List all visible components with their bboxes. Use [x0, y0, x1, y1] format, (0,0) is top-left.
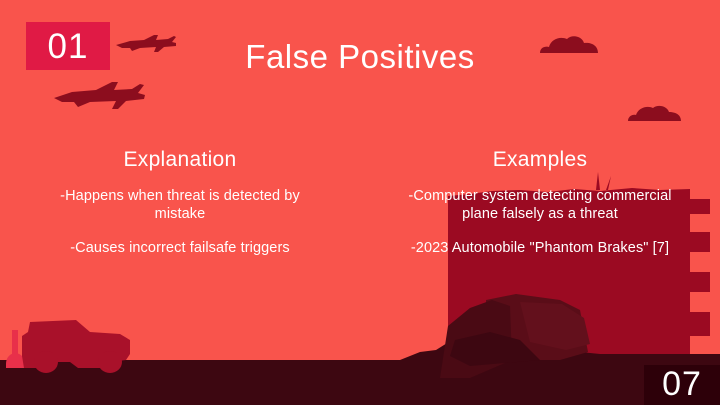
column-heading: Explanation [28, 148, 332, 171]
bullet-item: -Causes incorrect failsafe triggers [28, 239, 332, 257]
column-heading: Examples [388, 148, 692, 171]
bullet-item: -2023 Automobile "Phantom Brakes" [7] [388, 239, 692, 257]
column-examples: Examples -Computer system detecting comm… [360, 148, 720, 273]
rocky-terrain-silhouette [0, 334, 720, 405]
cloud-icon [627, 103, 682, 123]
slide-title: False Positives [0, 40, 720, 73]
fighter-jet-icon [52, 80, 148, 112]
content-columns: Explanation -Happens when threat is dete… [0, 148, 720, 273]
bullet-item: -Happens when threat is detected by mist… [28, 187, 332, 223]
rubble-silhouette [440, 294, 590, 378]
page-number-text: 07 [662, 367, 702, 401]
column-explanation: Explanation -Happens when threat is dete… [0, 148, 360, 273]
military-truck-silhouette [6, 320, 130, 373]
page-number-box: 07 [644, 365, 720, 405]
slide-canvas: 01 False Positives [0, 0, 720, 405]
bullet-item: -Computer system detecting commercial pl… [388, 187, 692, 223]
